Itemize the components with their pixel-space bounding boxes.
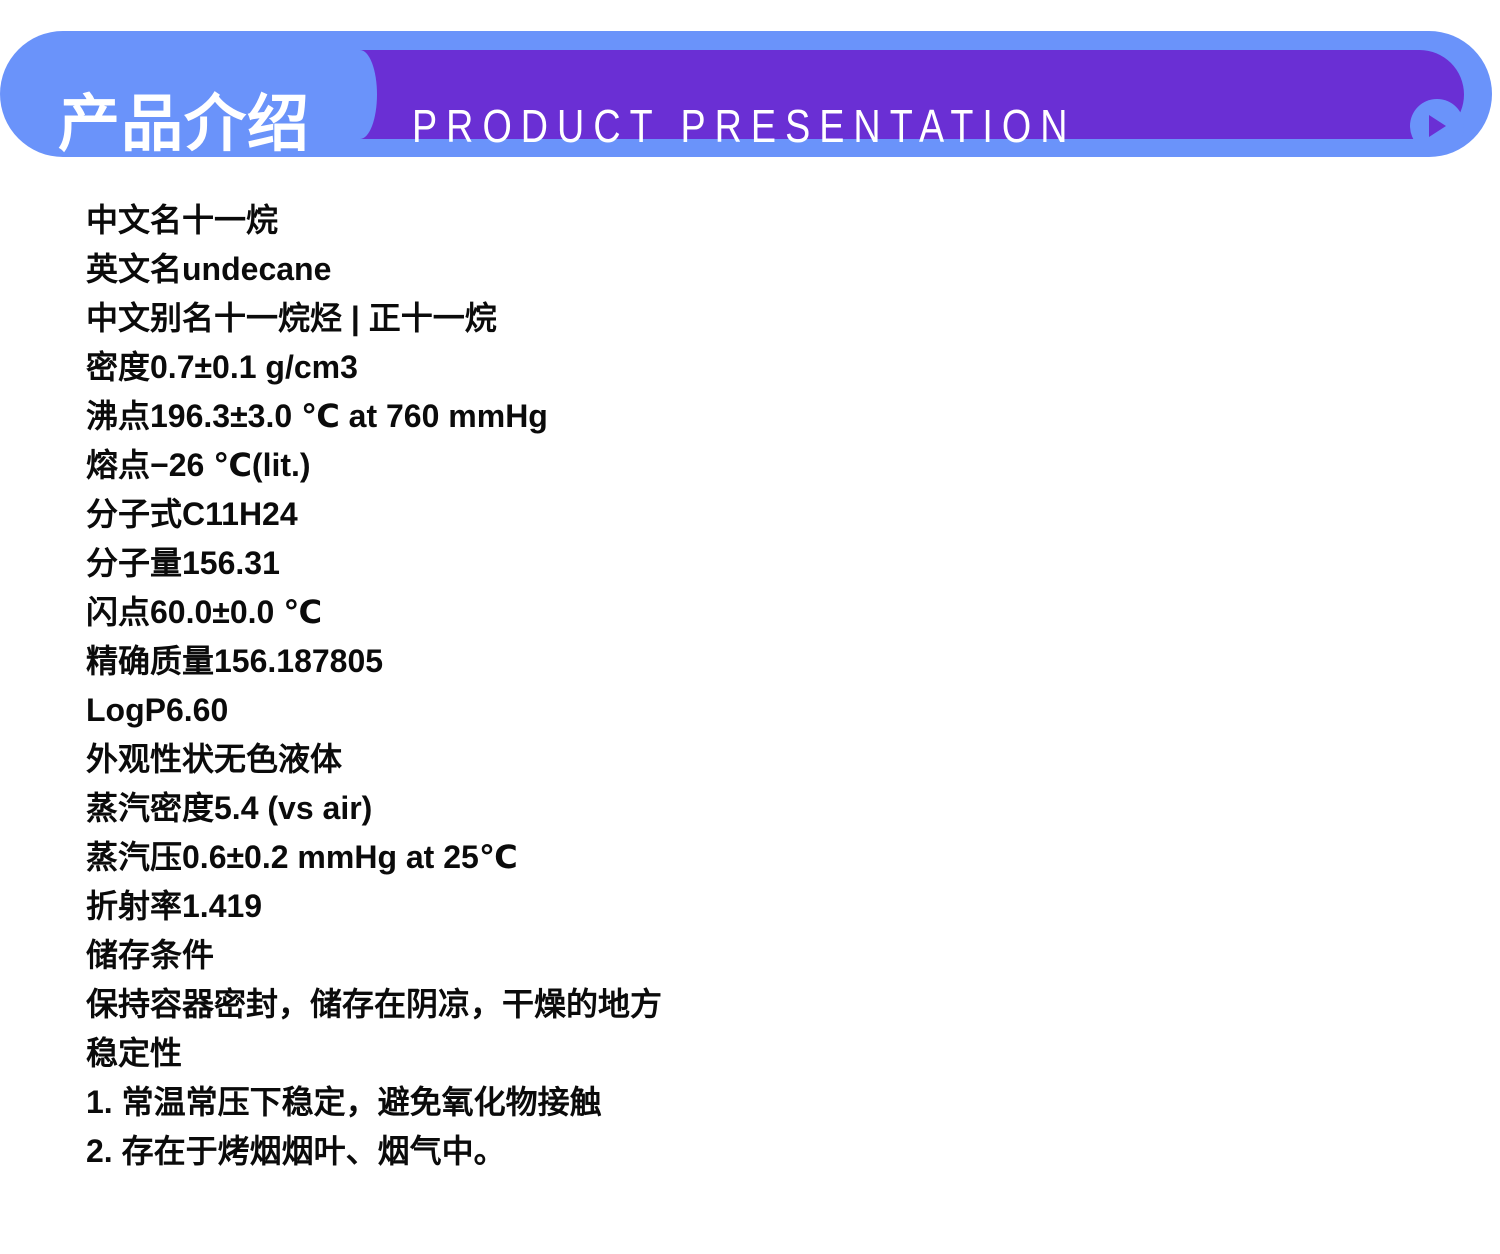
play-button[interactable]	[1410, 99, 1464, 153]
spec-line: 蒸汽压0.6±0.2 mmHg at 25℃	[86, 833, 1416, 882]
specification-list: 中文名十一烷 英文名undecane 中文别名十一烷烃 | 正十一烷 密度0.7…	[86, 196, 1416, 1176]
spec-line: 密度0.7±0.1 g/cm3	[86, 343, 1416, 392]
spec-line: 英文名undecane	[86, 245, 1416, 294]
header-title-chinese: 产品介绍	[58, 81, 310, 169]
play-triangle-icon	[1425, 113, 1449, 139]
spec-line: 保持容器密封，储存在阴凉，干燥的地方	[86, 980, 1416, 1029]
spec-line: LogP6.60	[86, 686, 1416, 735]
spec-line: 外观性状无色液体	[86, 735, 1416, 784]
spec-line: 熔点−26 ℃(lit.)	[86, 441, 1416, 490]
spec-line: 储存条件	[86, 931, 1416, 980]
spec-line: 折射率1.419	[86, 882, 1416, 931]
header-banner: 产品介绍 PRODUCT PRESENTATION	[0, 31, 1492, 157]
spec-line: 分子式C11H24	[86, 490, 1416, 539]
spec-line: 中文名十一烷	[86, 196, 1416, 245]
spec-line: 分子量156.31	[86, 539, 1416, 588]
product-presentation-page: 产品介绍 PRODUCT PRESENTATION 中文名十一烷 英文名unde…	[0, 0, 1500, 1254]
spec-line: 中文别名十一烷烃 | 正十一烷	[86, 294, 1416, 343]
spec-line: 1. 常温常压下稳定，避免氧化物接触	[86, 1078, 1416, 1127]
spec-line: 2. 存在于烤烟烟叶、烟气中。	[86, 1127, 1416, 1176]
spec-line: 精确质量156.187805	[86, 637, 1416, 686]
spec-line: 稳定性	[86, 1029, 1416, 1078]
header-title-english: PRODUCT PRESENTATION	[412, 81, 1077, 170]
spec-line: 蒸汽密度5.4 (vs air)	[86, 784, 1416, 833]
ribbon-notch-decoration	[343, 50, 377, 139]
spec-line: 沸点196.3±3.0 ℃ at 760 mmHg	[86, 392, 1416, 441]
spec-line: 闪点60.0±0.0 ℃	[86, 588, 1416, 637]
